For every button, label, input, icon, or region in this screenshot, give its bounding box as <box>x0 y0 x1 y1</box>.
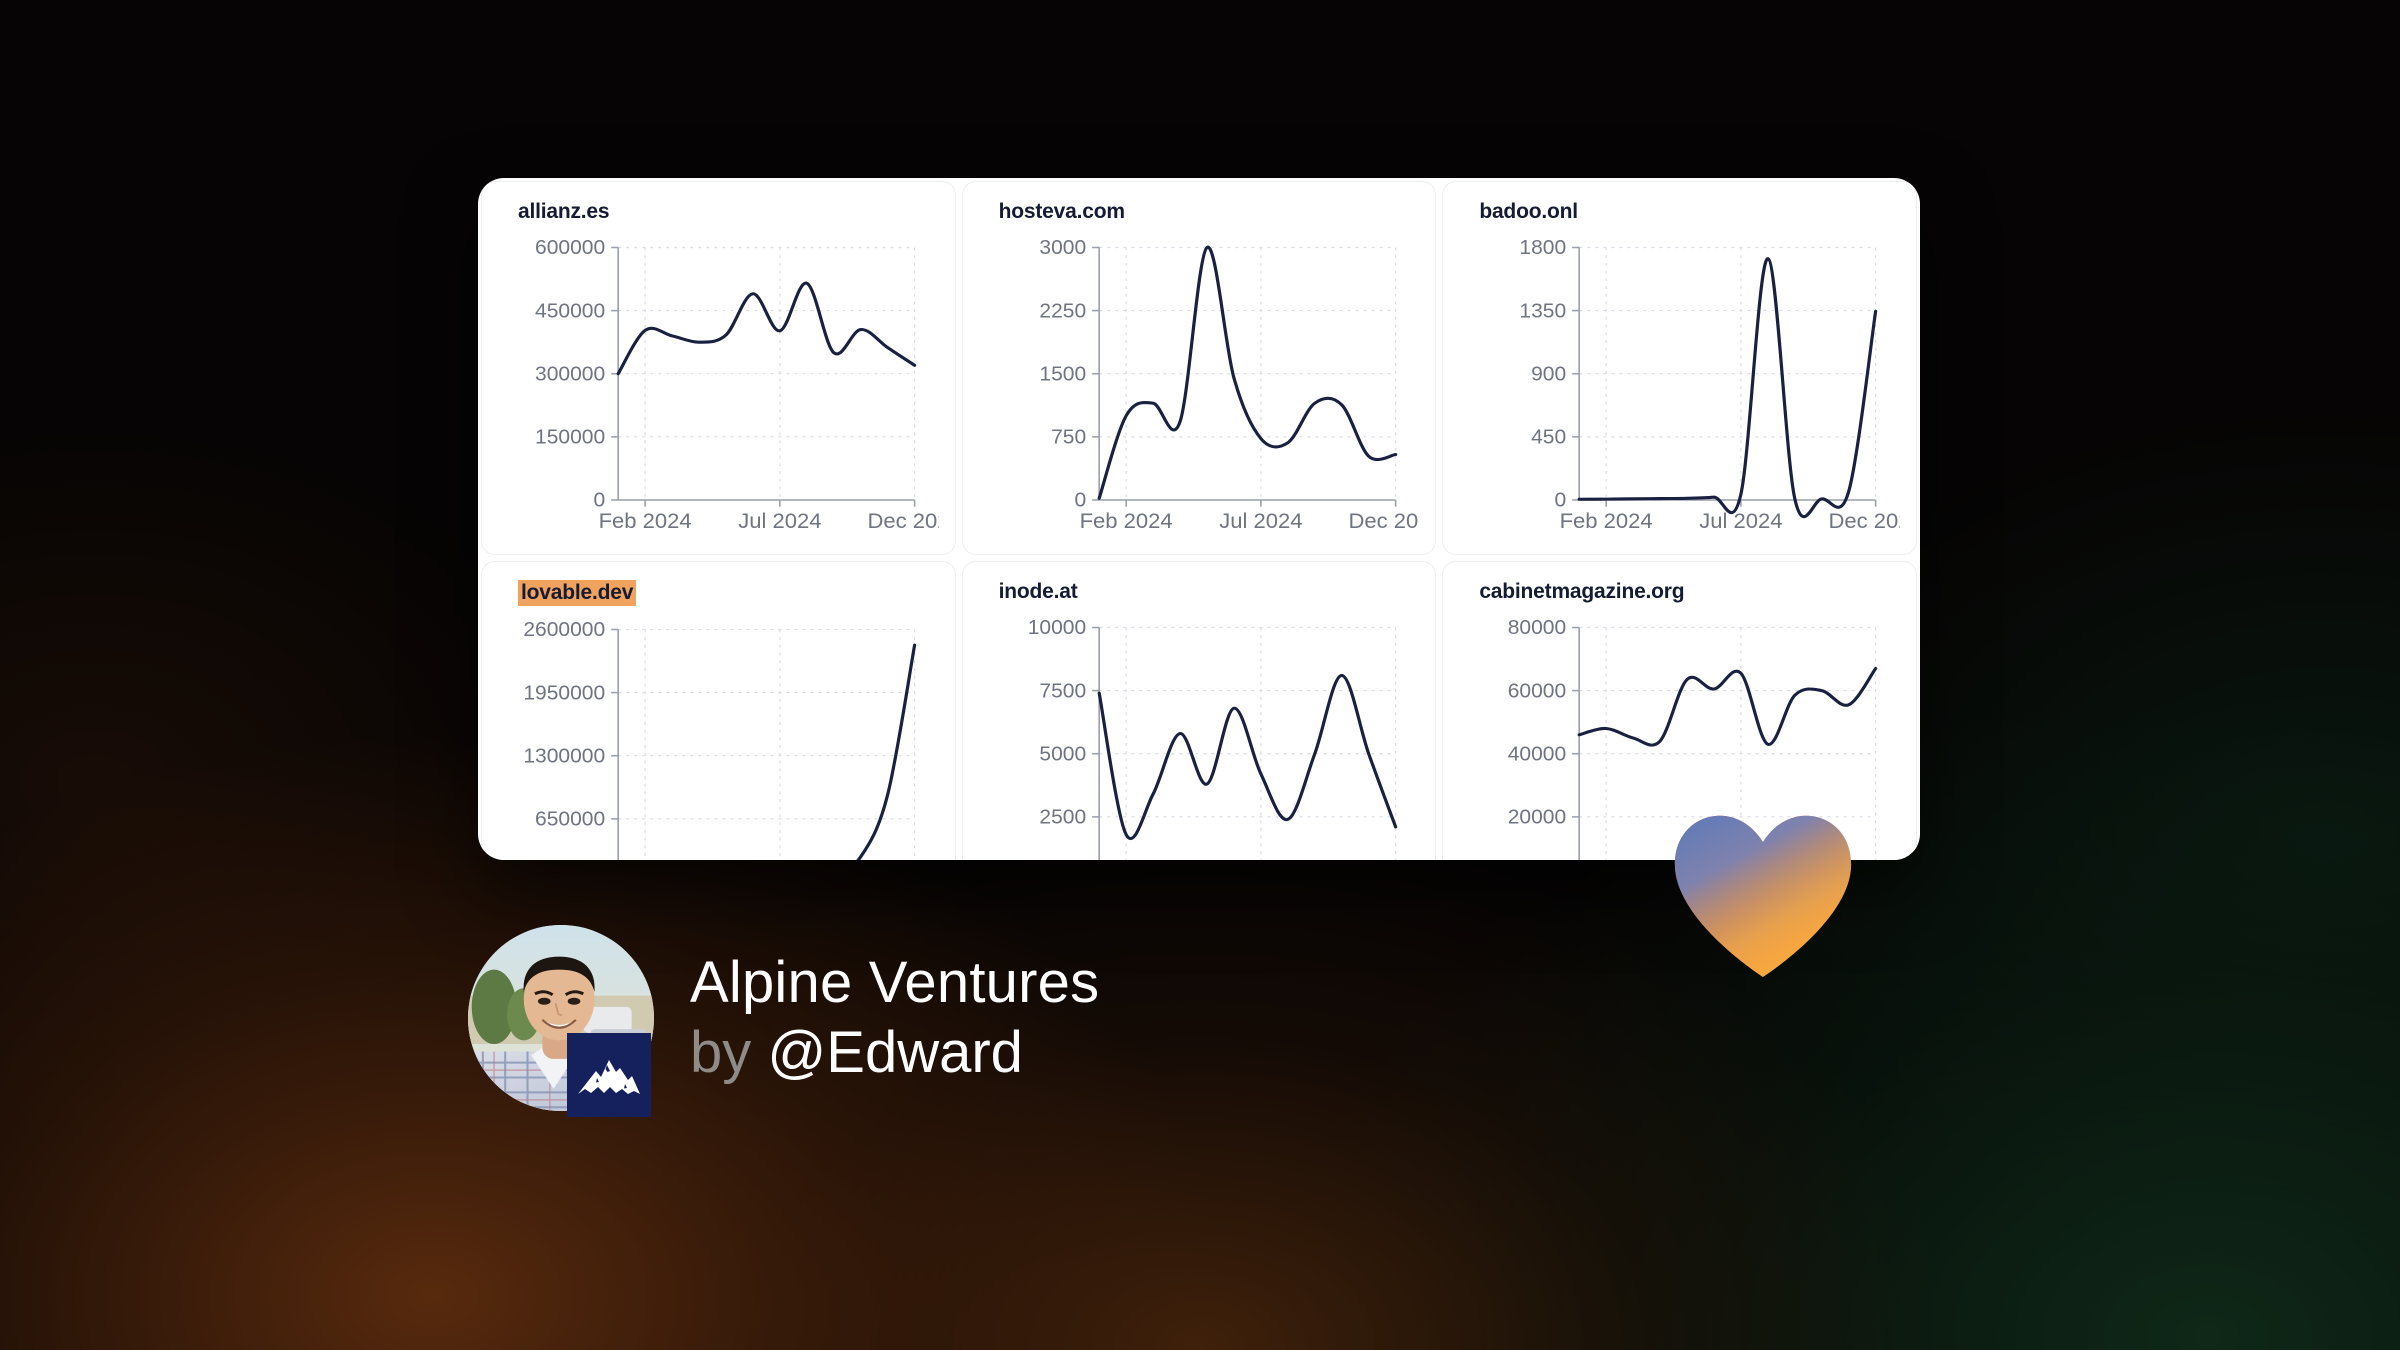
name-block: Alpine Ventures by @Edward <box>690 949 1099 1088</box>
x-axis-tick-label: Dec 2024 <box>1829 508 1900 533</box>
y-axis-tick-label: 750 <box>1051 426 1086 449</box>
y-axis-tick-label: 300000 <box>535 363 605 386</box>
chart-title: inode.at <box>999 580 1078 604</box>
y-axis-tick-label: 900 <box>1531 363 1566 386</box>
y-axis-tick-label: 1800 <box>1520 237 1567 260</box>
y-axis-tick-label: 10000 <box>1027 617 1085 640</box>
series-line <box>618 283 914 374</box>
y-axis-tick-label: 2500 <box>1039 806 1086 829</box>
y-axis-tick-label: 5000 <box>1039 743 1086 766</box>
footer-attribution: Alpine Ventures by @Edward <box>468 925 1099 1111</box>
x-axis-tick-label: Feb 2024 <box>1560 508 1653 533</box>
y-axis-tick-label: 1300000 <box>523 745 605 768</box>
y-axis-tick-label: 450 <box>1531 426 1566 449</box>
chart-title: cabinetmagazine.org <box>1479 580 1684 604</box>
y-axis-tick-label: 1950000 <box>523 682 605 705</box>
x-axis-tick-label: Dec 2024 <box>1348 508 1419 533</box>
avatar-block <box>468 925 654 1111</box>
plot-area: 045090013501800Feb 2024Jul 2024Dec 2024 <box>1459 234 1900 552</box>
chart-grid: allianz.es0150000300000450000600000Feb 2… <box>478 178 1920 860</box>
plot-area: 0750150022503000Feb 2024Jul 2024Dec 2024 <box>979 234 1420 552</box>
series-line <box>1580 669 1876 746</box>
y-axis-tick-label: 600000 <box>535 237 605 260</box>
series-line <box>1099 676 1395 839</box>
chart-card[interactable]: lovable.dev650000130000019500002600000 <box>481 561 956 860</box>
chart-card[interactable]: hosteva.com0750150022503000Feb 2024Jul 2… <box>962 181 1437 555</box>
y-axis-tick-label: 2600000 <box>523 619 605 642</box>
chart-card[interactable]: badoo.onl045090013501800Feb 2024Jul 2024… <box>1442 181 1917 555</box>
y-axis-tick-label: 80000 <box>1508 617 1566 640</box>
y-axis-tick-label: 650000 <box>535 808 605 831</box>
y-axis-tick-label: 1350 <box>1520 300 1567 323</box>
series-line <box>618 645 914 860</box>
y-axis-tick-label: 20000 <box>1508 806 1566 829</box>
x-axis-tick-label: Feb 2024 <box>1079 508 1172 533</box>
x-axis-tick-label: Jul 2024 <box>1219 508 1302 533</box>
plot-area: 0150000300000450000600000Feb 2024Jul 202… <box>498 234 939 552</box>
chart-card[interactable]: allianz.es0150000300000450000600000Feb 2… <box>481 181 956 555</box>
y-axis-tick-label: 40000 <box>1508 743 1566 766</box>
y-axis-tick-label: 150000 <box>535 426 605 449</box>
y-axis-tick-label: 450000 <box>535 300 605 323</box>
y-axis-tick-label: 7500 <box>1039 680 1086 703</box>
y-axis-tick-label: 2250 <box>1039 300 1086 323</box>
chart-card[interactable]: inode.at25005000750010000 <box>962 561 1437 860</box>
chart-title: badoo.onl <box>1479 200 1578 224</box>
y-axis-tick-label: 3000 <box>1039 237 1086 260</box>
series-line <box>1099 247 1395 498</box>
series-line <box>1580 259 1876 517</box>
y-axis-tick-label: 1500 <box>1039 363 1086 386</box>
x-axis-tick-label: Jul 2024 <box>1700 508 1783 533</box>
plot-area: 650000130000019500002600000 <box>498 616 939 860</box>
plot-area: 25005000750010000 <box>979 614 1420 860</box>
heart-icon[interactable] <box>1668 812 1858 977</box>
byline: by @Edward <box>690 1019 1099 1087</box>
x-axis-tick-label: Feb 2024 <box>599 508 692 533</box>
mountain-logo-icon <box>567 1033 651 1117</box>
x-axis-tick-label: Jul 2024 <box>738 508 821 533</box>
author-handle: @Edward <box>767 1020 1023 1085</box>
chart-title: lovable.dev <box>518 580 636 606</box>
chart-title: hosteva.com <box>999 200 1125 224</box>
x-axis-tick-label: Dec 2024 <box>867 508 938 533</box>
y-axis-tick-label: 60000 <box>1508 680 1566 703</box>
by-word: by <box>690 1020 751 1085</box>
project-name: Alpine Ventures <box>690 949 1099 1017</box>
dashboard-panel: allianz.es0150000300000450000600000Feb 2… <box>478 178 1920 860</box>
chart-title: allianz.es <box>518 200 609 224</box>
